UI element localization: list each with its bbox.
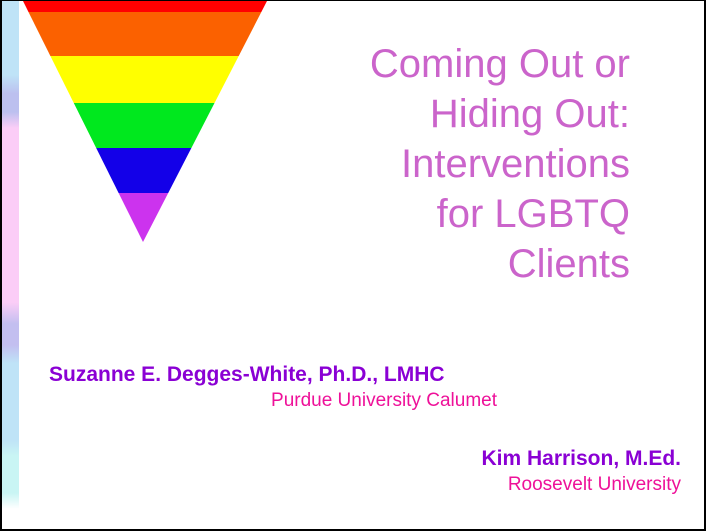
title-line-3: Interventions [300, 139, 630, 189]
band-red [23, 1, 267, 12]
title-line-5: Clients [300, 239, 630, 289]
band-green [23, 103, 267, 148]
band-yellow [23, 56, 267, 103]
band-orange [23, 12, 267, 56]
author-name-primary: Suzanne E. Degges-White, Ph.D., LMHC [49, 362, 551, 388]
author-name-secondary: Kim Harrison, M.Ed. [181, 446, 687, 472]
rainbow-triangle-svg [23, 1, 267, 242]
author-block-secondary: Kim Harrison, M.Ed. Roosevelt University [181, 446, 687, 498]
title-line-2: Hiding Out: [300, 89, 630, 139]
rainbow-inverted-triangle [23, 1, 267, 242]
band-purple [23, 193, 267, 242]
title-slide: Coming Out or Hiding Out: Interventions … [0, 0, 706, 531]
decorative-gradient-strip [2, 1, 19, 530]
title-line-4: for LGBTQ [300, 189, 630, 239]
author-block-primary: Suzanne E. Degges-White, Ph.D., LMHC Pur… [49, 362, 551, 414]
author-affiliation-primary: Purdue University Calumet [49, 388, 551, 414]
page-title: Coming Out or Hiding Out: Interventions … [300, 39, 630, 289]
title-line-1: Coming Out or [300, 39, 630, 89]
band-blue [23, 148, 267, 193]
author-affiliation-secondary: Roosevelt University [181, 472, 687, 498]
